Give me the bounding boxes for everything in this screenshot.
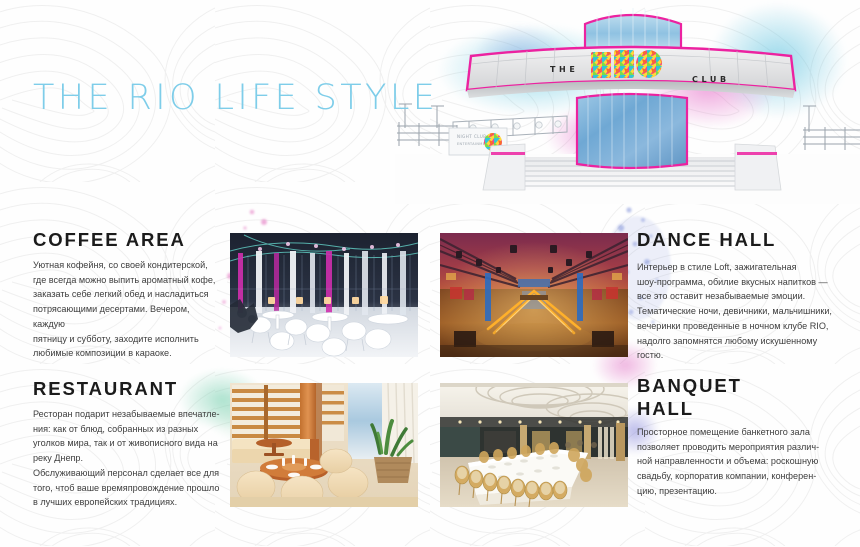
brochure-page: NIGHT CLUB ENTERTAINMENT [0,0,860,547]
page-title: THE RIO LIFE STYLE [33,78,438,118]
section-heading-restaurant: RESTAURANT [33,378,178,401]
section-body-banquet-hall: Просторное помещение банкетного зала поз… [637,425,833,499]
section-heading-coffee-area: COFFEE AREA [33,229,186,252]
section-body-coffee-area: Уютная кофейня, со своей кондитерской, г… [33,258,223,361]
section-heading-dance-hall: DANCE HALL [637,229,776,252]
section-body-restaurant: Ресторан подарит незабываемые впечатле- … [33,407,231,510]
section-heading-banquet-hall: BANQUET HALL [637,375,757,420]
section-body-dance-hall: Интерьер в стиле Loft, зажигательная шоу… [637,260,833,363]
